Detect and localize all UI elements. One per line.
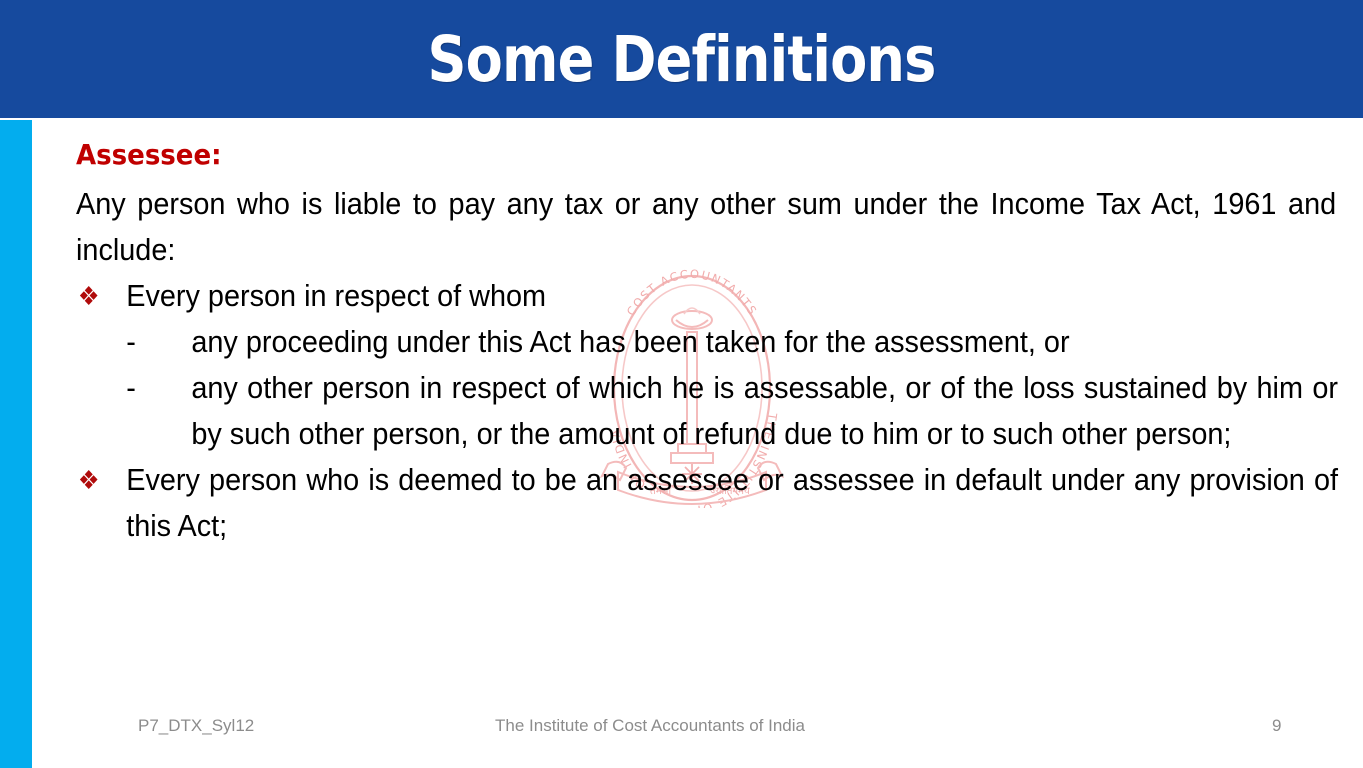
list-item: ❖ Every person who is deemed to be an as…	[76, 457, 1338, 549]
sub-list-item: - any other person in respect of which h…	[76, 365, 1338, 457]
left-accent-bar	[0, 120, 32, 768]
footer-organization: The Institute of Cost Accountants of Ind…	[495, 716, 805, 736]
list-item: ❖ Every person in respect of whom	[76, 273, 1338, 319]
diamond-bullet-icon: ❖	[76, 457, 126, 503]
list-item-label: Every person in respect of whom	[126, 273, 1338, 319]
footer-page-number: 9	[1272, 716, 1281, 736]
dash-bullet-icon: -	[126, 365, 191, 411]
sub-list-item-label: any proceeding under this Act has been t…	[191, 319, 1338, 365]
sub-list-item-label: any other person in respect of which he …	[191, 365, 1338, 457]
list-item-label: Every person who is deemed to be an asse…	[126, 457, 1338, 549]
bullet-group-2: ❖ Every person who is deemed to be an as…	[76, 457, 1338, 549]
dash-bullet-icon: -	[126, 319, 191, 365]
title-banner: Some Definitions	[0, 0, 1363, 118]
slide-footer: P7_DTX_Syl12 The Institute of Cost Accou…	[32, 716, 1332, 750]
slide-body: Assessee: Any person who is liable to pa…	[76, 138, 1338, 549]
page-title: Some Definitions	[95, 0, 1267, 118]
section-heading: Assessee:	[76, 138, 1250, 172]
sub-list-item: - any proceeding under this Act has been…	[76, 319, 1338, 365]
diamond-bullet-icon: ❖	[76, 273, 126, 319]
intro-paragraph: Any person who is liable to pay any tax …	[76, 181, 1336, 273]
footer-course-code: P7_DTX_Syl12	[138, 716, 254, 736]
bullet-group-1: ❖ Every person in respect of whom - any …	[76, 273, 1338, 457]
slide-canvas: Some Definitions COST ACCOUNTANTS THE IN…	[0, 0, 1363, 768]
